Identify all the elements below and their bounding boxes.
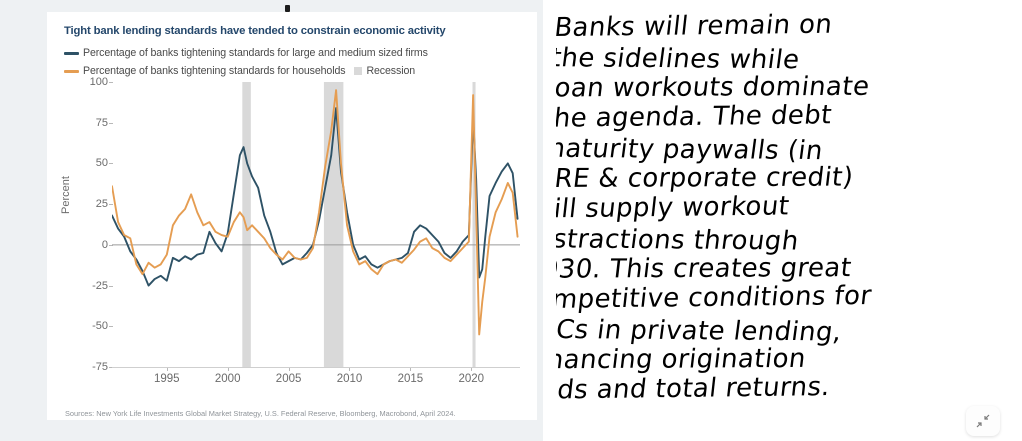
legend-label-firms: Percentage of banks tightening standards… <box>83 47 428 59</box>
x-axis-line <box>112 367 520 368</box>
y-tick-label: -75 <box>74 361 108 373</box>
handwritten-line: yields and total returns. <box>556 372 832 406</box>
x-tick-label: 2000 <box>215 373 241 385</box>
handwritten-line: the agenda. The debt <box>556 100 833 133</box>
handwritten-line: 2030. This creates great <box>556 253 853 285</box>
resize-handle-button[interactable] <box>966 406 1000 436</box>
resize-handle-icon <box>976 414 990 428</box>
x-tick-label: 2010 <box>337 373 363 385</box>
x-tick-label: 2005 <box>276 373 302 385</box>
y-tick-label: 0 <box>74 239 108 251</box>
chart-series-canvas <box>112 82 520 367</box>
y-axis-ticks: 1007550250-25-50-75 <box>64 82 108 367</box>
handwritten-line: CRE & corporate credit) <box>556 163 855 195</box>
handwritten-line: enhancing origination <box>556 344 808 375</box>
handwritten-line: Banks will remain on <box>556 10 834 43</box>
screen-root: Tight bank lending standards have tended… <box>0 0 1022 441</box>
chart-source-note: Sources: New York Life Investments Globa… <box>65 409 456 418</box>
handwritten-line: the sidelines while <box>556 43 801 75</box>
chart-title: Tight bank lending standards have tended… <box>64 25 514 37</box>
handwritten-notes: Banks will remain onthe sidelines whilel… <box>556 0 1022 441</box>
handwritten-line: loan workouts dominate <box>556 72 871 104</box>
y-tick-label: -25 <box>74 280 108 292</box>
legend-swatch-box-recession <box>354 67 362 75</box>
panel-marker-dot <box>285 5 290 12</box>
y-tick-label: 100 <box>74 76 108 88</box>
handwritten-line: will supply workout <box>556 191 791 224</box>
legend-item-households: Percentage of banks tightening standards… <box>64 62 524 80</box>
handwritten-line: maturity paywalls (in <box>556 134 825 166</box>
handwritten-line: distractions through <box>556 224 801 256</box>
slide-panel: Tight bank lending standards have tended… <box>0 0 543 441</box>
y-tick-label: -50 <box>74 320 108 332</box>
x-tick-label: 2015 <box>398 373 424 385</box>
y-tick-label: 25 <box>74 198 108 210</box>
legend-label-recession: Recession <box>366 65 415 77</box>
x-axis-ticks: 199520002005201020152020 <box>112 367 520 394</box>
legend-item-firms: Percentage of banks tightening standards… <box>64 44 524 62</box>
y-tick-label: 75 <box>74 117 108 129</box>
handwritten-line: competitive conditions for <box>556 281 873 315</box>
x-tick-label: 1995 <box>154 373 180 385</box>
legend-swatch-line-firms <box>64 52 79 55</box>
handwritten-line: BDCs in private lending, <box>556 315 844 348</box>
x-tick-label: 2020 <box>458 373 484 385</box>
legend-label-households: Percentage of banks tightening standards… <box>83 65 345 77</box>
handwriting-canvas: Banks will remain onthe sidelines whilel… <box>556 0 1022 441</box>
legend-swatch-line-households <box>64 70 79 73</box>
chart-plot-area: Percent 1007550250-25-50-75 199520002005… <box>64 82 520 394</box>
chart-card: Tight bank lending standards have tended… <box>47 12 537 420</box>
chart-legend: Percentage of banks tightening standards… <box>64 44 524 80</box>
y-tick-label: 50 <box>74 157 108 169</box>
